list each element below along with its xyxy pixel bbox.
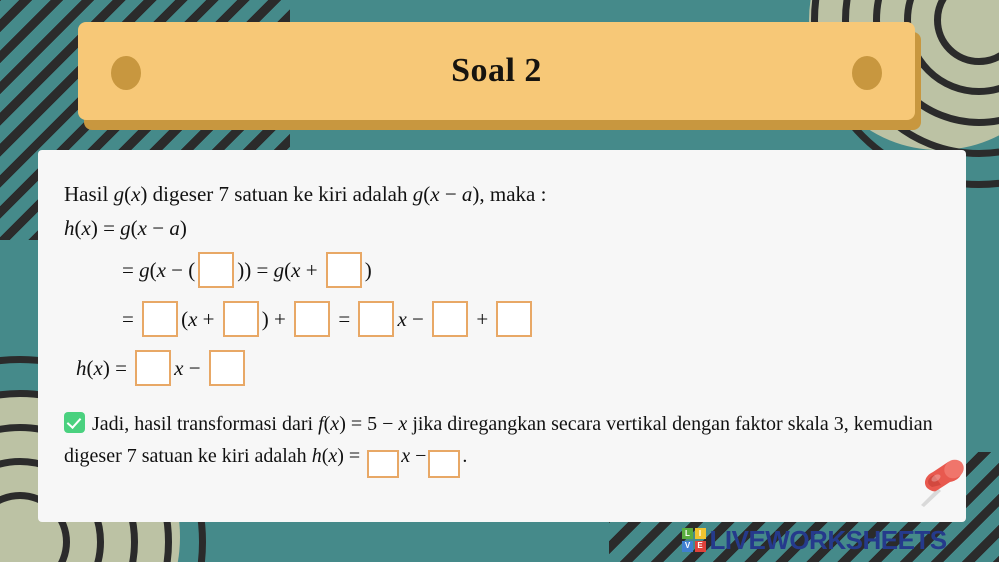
- equation-line-5: h(x) = x −: [64, 350, 940, 386]
- line2-paren-3: ): [180, 218, 187, 239]
- equation-line-1: Hasil g(x) digeser 7 satuan ke kiri adal…: [64, 184, 940, 205]
- conclusion-eq-1: ) = 5: [339, 413, 382, 435]
- answer-blank-10[interactable]: [209, 350, 245, 386]
- conclusion-minus-1: −: [382, 413, 398, 435]
- line1-x-1: x: [131, 184, 140, 205]
- conclusion-x-2: x: [398, 413, 407, 435]
- logo-tile-v: V: [682, 541, 693, 552]
- line1-g-2: g: [413, 184, 424, 205]
- line3-x-2: x: [291, 260, 300, 281]
- line2-h: h: [64, 218, 75, 239]
- answer-blank-7[interactable]: [432, 301, 468, 337]
- line2-g: g: [120, 218, 131, 239]
- logo-tile-e: E: [695, 541, 706, 552]
- conclusion-text-1: Jadi, hasil transformasi dari: [92, 413, 318, 435]
- answer-blank-1[interactable]: [198, 252, 234, 288]
- line2-a: a: [169, 218, 180, 239]
- conclusion-h: h: [312, 445, 322, 467]
- line4-plus-1: +: [197, 309, 219, 330]
- line2-x-1: x: [82, 218, 91, 239]
- line4-minus: −: [407, 309, 429, 330]
- line4-plus-2: +: [269, 309, 291, 330]
- conclusion-eq-2: ) =: [337, 445, 365, 467]
- equation-line-3: = g(x − ()) = g(x + ): [64, 252, 940, 288]
- line3-paren-1: (: [150, 260, 157, 281]
- banner-surface: Soal 2: [78, 22, 915, 120]
- answer-blank-6[interactable]: [358, 301, 394, 337]
- line3-minus: −: [166, 260, 188, 281]
- line1-g: g: [114, 184, 125, 205]
- pushpin-icon: [908, 450, 974, 516]
- line1-text-1: Hasil: [64, 184, 114, 205]
- line4-plus-3: +: [471, 309, 493, 330]
- title-banner: Soal 2: [78, 22, 921, 130]
- conclusion-paragraph: Jadi, hasil transformasi dari f(x) = 5 −…: [64, 408, 940, 478]
- logo-tile-i: I: [695, 528, 706, 539]
- line1-minus: −: [440, 184, 462, 205]
- line3-g-2: g: [274, 260, 285, 281]
- checkmark-icon: [64, 412, 85, 433]
- line4-x-2: x: [397, 309, 406, 330]
- page-title: Soal 2: [451, 52, 542, 90]
- banner-dot-right-icon: [852, 56, 882, 90]
- line1-text-3: ), maka :: [472, 184, 546, 205]
- line3-paren-5: ): [365, 260, 372, 281]
- answer-blank-11[interactable]: [367, 450, 399, 478]
- line3-g-1: g: [139, 260, 150, 281]
- line5-equals: ) =: [103, 358, 132, 379]
- answer-blank-8[interactable]: [496, 301, 532, 337]
- line4-equals-2: =: [333, 309, 355, 330]
- worksheet-card: Hasil g(x) digeser 7 satuan ke kiri adal…: [38, 150, 966, 522]
- line5-paren-1: (: [87, 358, 94, 379]
- line4-paren-2: ): [262, 309, 269, 330]
- line5-minus: −: [184, 358, 206, 379]
- line3-plus: +: [300, 260, 322, 281]
- line4-x-1: x: [188, 309, 197, 330]
- equation-line-2: h(x) = g(x − a): [64, 218, 940, 239]
- line2-x-2: x: [138, 218, 147, 239]
- answer-blank-2[interactable]: [326, 252, 362, 288]
- answer-blank-12[interactable]: [428, 450, 460, 478]
- line5-x-1: x: [94, 358, 103, 379]
- conclusion-x-1: x: [330, 413, 339, 435]
- line3-equals-1: =: [122, 260, 139, 281]
- line3-paren-3: )) =: [237, 260, 273, 281]
- banner-dot-left-icon: [111, 56, 141, 90]
- line3-x-1: x: [157, 260, 166, 281]
- line2-paren-2: (: [131, 218, 138, 239]
- line2-equals: ) =: [91, 218, 120, 239]
- liveworksheets-logo: L I V E LIVEWORKSHEETS: [682, 524, 947, 556]
- line1-text-2: ) digeser 7 satuan ke kiri adalah: [140, 184, 412, 205]
- conclusion-x-4: x: [401, 445, 410, 467]
- line4-equals-1: =: [122, 309, 139, 330]
- equation-line-4: = (x + ) + = x − +: [64, 301, 940, 337]
- answer-blank-3[interactable]: [142, 301, 178, 337]
- answer-blank-5[interactable]: [294, 301, 330, 337]
- line5-x-2: x: [174, 358, 183, 379]
- logo-tile-l: L: [682, 528, 693, 539]
- conclusion-x-3: x: [328, 445, 337, 467]
- line1-a: a: [462, 184, 473, 205]
- line2-minus: −: [147, 218, 169, 239]
- answer-blank-9[interactable]: [135, 350, 171, 386]
- line5-h: h: [76, 358, 87, 379]
- logo-wordmark: LIVEWORKSHEETS: [710, 525, 947, 556]
- answer-blank-4[interactable]: [223, 301, 259, 337]
- conclusion-minus-2: −: [410, 445, 426, 467]
- logo-tiles-icon: L I V E: [682, 528, 706, 552]
- conclusion-period: .: [462, 445, 467, 467]
- line1-x-2: x: [430, 184, 439, 205]
- line2-paren-1: (: [75, 218, 82, 239]
- line3-paren-2: (: [188, 260, 195, 281]
